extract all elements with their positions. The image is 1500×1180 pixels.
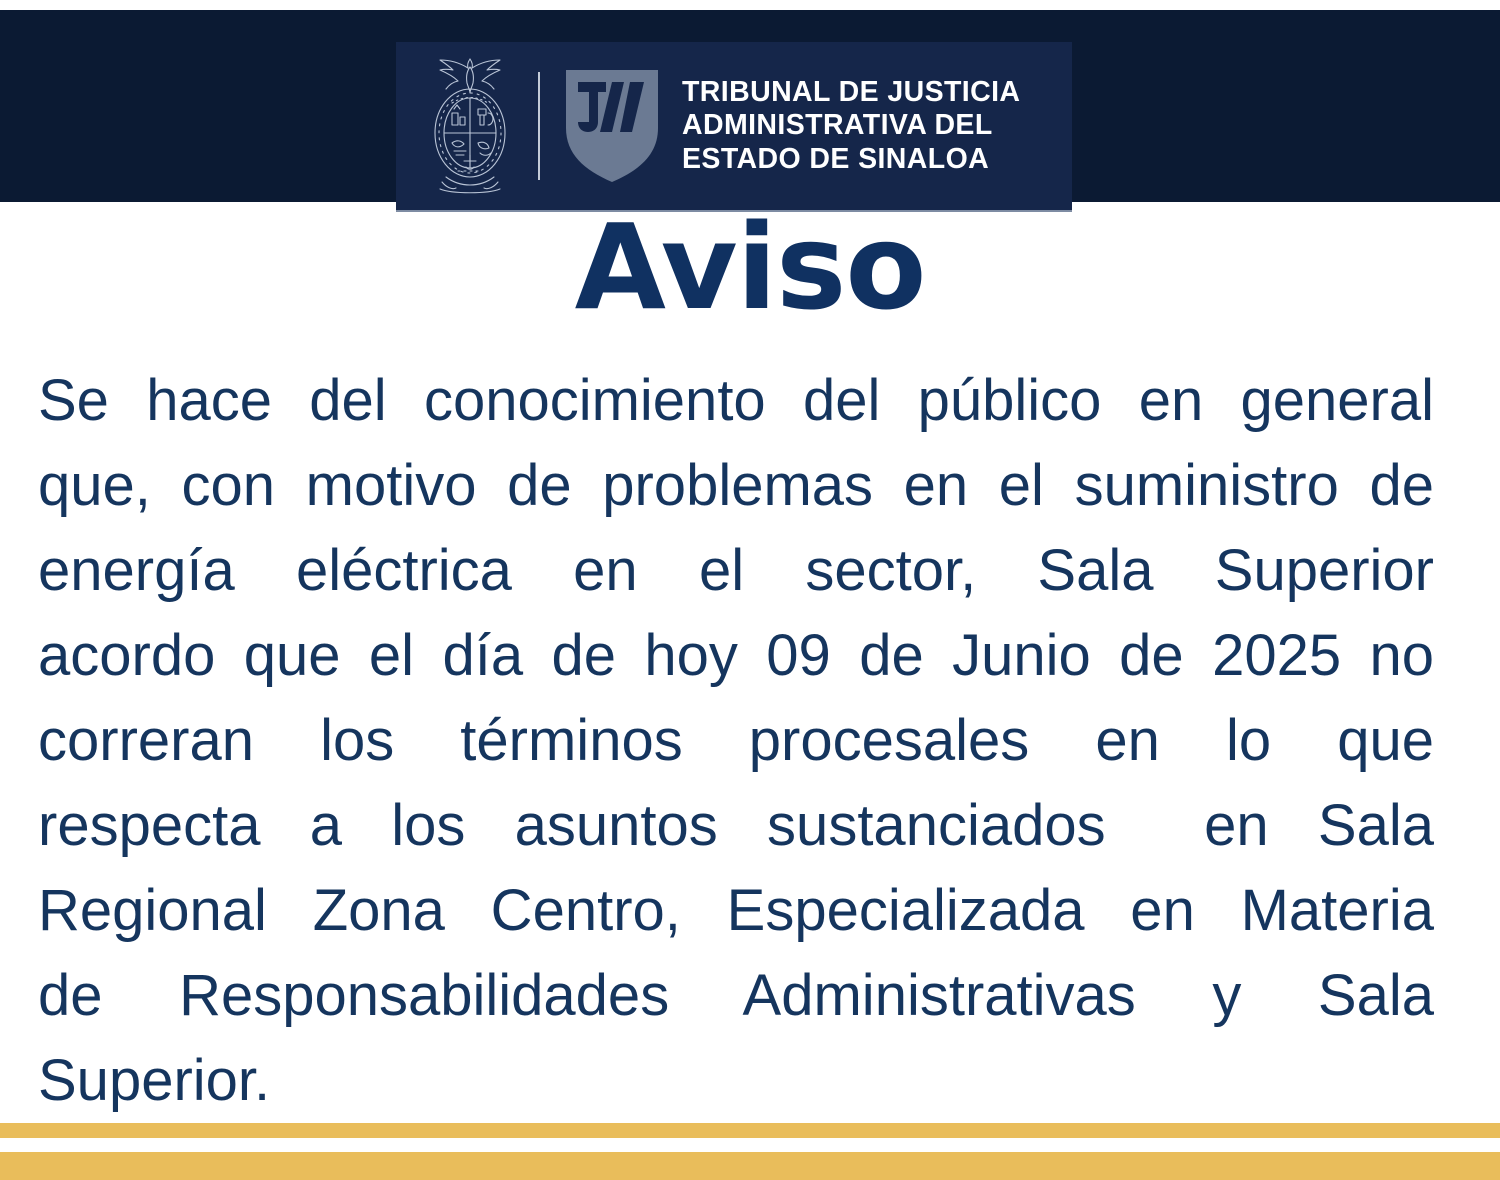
notice-line: que, con motivo de problemas en el sumin… [38, 443, 1434, 528]
organization-name: TRIBUNAL DE JUSTICIA ADMINISTRATIVA DEL … [682, 76, 1020, 175]
notice-body-text: Se hace del conocimiento del público en … [38, 358, 1434, 1123]
notice-line: energía eléctrica en el sector, Sala Sup… [38, 528, 1434, 613]
header-divider-icon [538, 72, 540, 180]
notice-line: correran los términos procesales en lo q… [38, 698, 1434, 783]
notice-line: de Responsabilidades Administrativas y S… [38, 953, 1434, 1038]
footer-gold-rule-thin [0, 1123, 1500, 1138]
notice-line: respecta a los asuntos sustanciados en S… [38, 783, 1434, 868]
org-name-line-1: TRIBUNAL DE JUSTICIA [682, 76, 1020, 109]
sinaloa-state-coat-of-arms-icon [416, 51, 524, 201]
notice-line: Superior. [38, 1038, 1434, 1123]
footer-gold-rule-thick [0, 1152, 1500, 1180]
notice-line: acordo que el día de hoy 09 de Junio de … [38, 613, 1434, 698]
notice-line: Regional Zona Centro, Especializada en M… [38, 868, 1434, 953]
header-logo-banner: TRIBUNAL DE JUSTICIA ADMINISTRATIVA DEL … [396, 42, 1072, 212]
org-name-line-2: ADMINISTRATIVA DEL [682, 109, 1020, 142]
tja-shield-monogram-icon [562, 66, 662, 186]
org-name-line-3: ESTADO DE SINALOA [682, 143, 1020, 176]
header-band: TRIBUNAL DE JUSTICIA ADMINISTRATIVA DEL … [0, 10, 1500, 202]
page-title: Aviso [0, 206, 1500, 330]
notice-line: Se hace del conocimiento del público en … [38, 358, 1434, 443]
